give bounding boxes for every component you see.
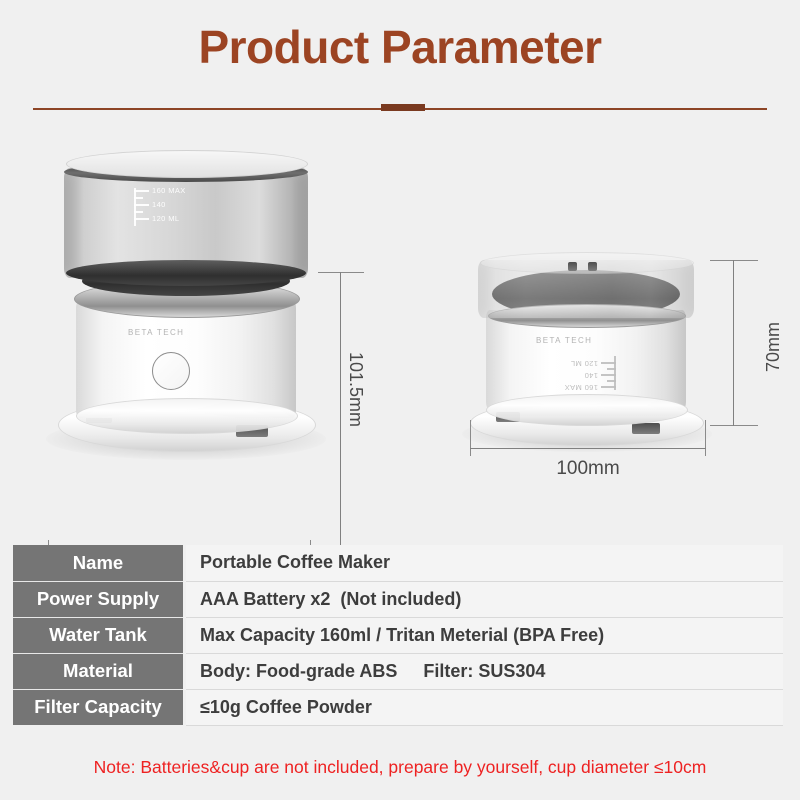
scale-tick-140	[601, 375, 616, 377]
scale-tick-130	[134, 211, 143, 213]
scale-label-160: 160 MAX	[152, 186, 186, 195]
spec-value-main: Body: Food-grade ABS	[200, 661, 397, 681]
product-illustrations: BETA TECH 160 MAX 140 120 ML	[0, 120, 800, 530]
scale-axis	[615, 356, 617, 390]
page-header: Product Parameter	[0, 0, 800, 118]
left-power-button[interactable]	[152, 352, 190, 390]
left-body-bottom-curve	[76, 398, 298, 434]
right-height-line	[733, 260, 734, 426]
spec-value-main: AAA Battery x2	[200, 589, 330, 609]
table-row: Water Tank Max Capacity 160ml / Tritan M…	[13, 617, 783, 653]
right-width-label: 100mm	[470, 458, 706, 480]
right-lid-clip-2	[588, 262, 597, 271]
right-body-bottom-curve	[486, 394, 688, 426]
product-left-assembled: BETA TECH 160 MAX 140 120 ML	[40, 140, 340, 470]
scale-tick-140	[134, 204, 149, 206]
spec-key: Material	[13, 653, 185, 689]
right-brand-label: BETA TECH	[536, 336, 592, 345]
left-brand-label: BETA TECH	[128, 328, 184, 337]
right-width-cap-left	[470, 420, 471, 456]
spec-value-extra: (Not included)	[340, 589, 461, 609]
spec-value-main: ≤10g Coffee Powder	[200, 697, 372, 717]
scale-tick-150	[134, 197, 143, 199]
spec-key: Filter Capacity	[13, 689, 185, 725]
left-height-cap-top	[318, 272, 364, 273]
right-base-notch-2	[632, 423, 660, 434]
scale-label-120: 120 ML	[571, 359, 598, 368]
scale-tick-130	[607, 369, 616, 371]
right-width-cap-right	[705, 420, 706, 456]
right-height-label: 70mm	[763, 322, 784, 372]
right-lid-clip-1	[568, 262, 577, 271]
scale-tick-120	[134, 218, 149, 220]
left-tank-scale: 160 MAX 140 120 ML	[134, 188, 204, 226]
left-height-line	[340, 272, 341, 554]
scale-tick-150	[607, 381, 616, 383]
right-tank-scale: 160 MAX 140 120 ML	[546, 356, 616, 390]
scale-label-140: 140	[152, 200, 166, 209]
right-height-cap-bottom	[710, 425, 758, 426]
scale-label-120: 120 ML	[152, 214, 179, 223]
spec-value: AAA Battery x2(Not included)	[185, 581, 784, 617]
page-title: Product Parameter	[0, 16, 800, 78]
spec-value: ≤10g Coffee Powder	[185, 689, 784, 725]
spec-value: Body: Food-grade ABSFilter: SUS304	[185, 653, 784, 689]
spec-value-main: Max Capacity 160ml / Tritan Meterial (BP…	[200, 625, 604, 645]
scale-label-140: 140	[584, 371, 598, 380]
right-dome-rim	[480, 252, 694, 274]
spec-value: Portable Coffee Maker	[185, 545, 784, 581]
left-tank-lid	[66, 150, 308, 178]
table-row: Power Supply AAA Battery x2(Not included…	[13, 581, 783, 617]
scale-axis	[134, 188, 136, 226]
spec-key: Water Tank	[13, 617, 185, 653]
spec-value-extra: Filter: SUS304	[423, 661, 545, 681]
spec-value-main: Portable Coffee Maker	[200, 552, 390, 572]
product-parameter-page: Product Parameter BETA TECH	[0, 0, 800, 800]
scale-tick-160	[134, 190, 149, 192]
left-height-label: 101.5mm	[345, 352, 366, 427]
scale-label-160: 160 MAX	[564, 383, 598, 392]
table-row: Filter Capacity ≤10g Coffee Powder	[13, 689, 783, 725]
right-height-cap-top	[710, 260, 758, 261]
header-divider-accent	[381, 104, 425, 111]
spec-value: Max Capacity 160ml / Tritan Meterial (BP…	[185, 617, 784, 653]
spec-key: Name	[13, 545, 185, 581]
left-tank-bottom-band	[66, 260, 306, 286]
table-row: Name Portable Coffee Maker	[13, 545, 783, 581]
right-width-line	[470, 448, 706, 449]
table-row: Material Body: Food-grade ABSFilter: SUS…	[13, 653, 783, 689]
spec-key: Power Supply	[13, 581, 185, 617]
product-right-collapsed: BETA TECH 160 MAX 140 120 ML	[460, 248, 720, 463]
scale-tick-160	[601, 387, 616, 389]
scale-tick-120	[601, 363, 616, 365]
spec-table: Name Portable Coffee Maker Power Supply …	[13, 545, 783, 726]
footer-note: Note: Batteries&cup are not included, pr…	[0, 757, 800, 778]
